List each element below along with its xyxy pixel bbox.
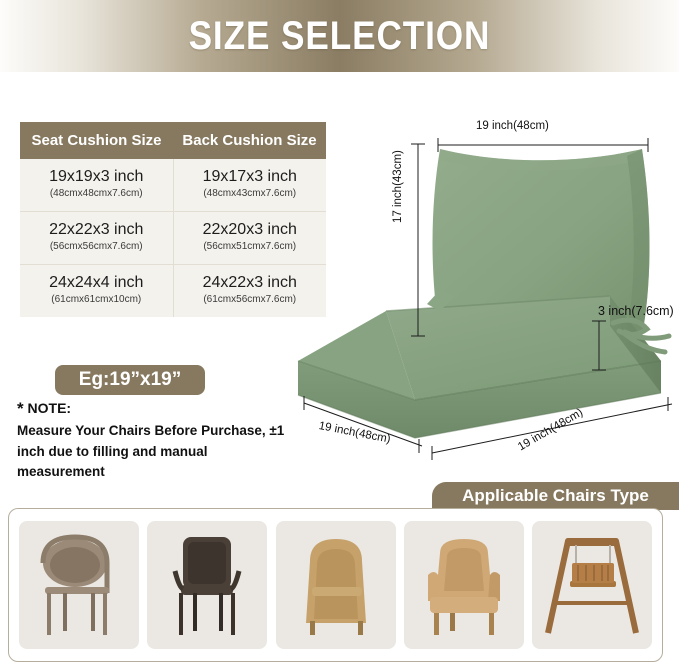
cushion-dimension-diagram: 19 inch(48cm) 17 inch(43cm) 3 inch(7.6cm… xyxy=(280,108,679,476)
seat-size-cm: (61cmx61cmx10cm) xyxy=(24,293,169,307)
page-title: SIZE SELECTION xyxy=(189,14,491,59)
example-size-label: Eg:19”x19” xyxy=(79,369,181,391)
seat-size-inch: 19x19x3 inch xyxy=(24,167,169,187)
seat-size-inch: 24x24x4 inch xyxy=(24,273,169,293)
chair-thumbnail-round-back-wicker-bistro-chair xyxy=(19,521,139,649)
chair-thumbnail-dark-brown-wicker-dining-armchair xyxy=(147,521,267,649)
chair-thumbnail-tan-wicker-barrel-chair xyxy=(276,521,396,649)
chair-thumbnail-natural-wicker-lounge-armchair xyxy=(404,521,524,649)
table-cell-seat-size: 22x22x3 inch (56cmx56cmx7.6cm) xyxy=(20,212,173,265)
note-heading: * NOTE: xyxy=(17,400,297,419)
applicable-chairs-panel xyxy=(8,508,663,662)
seat-size-cm: (56cmx56cmx7.6cm) xyxy=(24,240,169,254)
asterisk-icon: * xyxy=(17,399,24,418)
dim-label-seat-thickness: 3 inch(7.6cm) xyxy=(598,304,674,318)
table-cell-seat-size: 19x19x3 inch (48cmx48cmx7.6cm) xyxy=(20,159,173,212)
seat-size-cm: (48cmx48cmx7.6cm) xyxy=(24,187,169,201)
note-block: * NOTE: Measure Your Chairs Before Purch… xyxy=(17,400,297,481)
page-header-banner: SIZE SELECTION xyxy=(0,0,679,72)
note-heading-label: NOTE: xyxy=(28,400,72,416)
applicable-chairs-label: Applicable Chairs Type xyxy=(462,486,649,506)
applicable-chairs-tab: Applicable Chairs Type xyxy=(432,482,679,510)
dim-label-back-cushion-height: 17 inch(43cm) xyxy=(392,150,404,223)
dim-label-back-cushion-width: 19 inch(48cm) xyxy=(476,120,549,132)
note-line-1: Measure Your Chairs Before Purchase, ±1 xyxy=(17,421,297,441)
chair-thumbnail-wooden-porch-swing xyxy=(532,521,652,649)
note-line-2: inch due to filling and manual measureme… xyxy=(17,442,297,481)
seat-size-inch: 22x22x3 inch xyxy=(24,220,169,240)
cushion-illustration xyxy=(280,108,679,476)
column-header-seat-cushion-size: Seat Cushion Size xyxy=(20,122,173,159)
table-cell-seat-size: 24x24x4 inch (61cmx61cmx10cm) xyxy=(20,265,173,318)
example-size-badge: Eg:19”x19” xyxy=(55,365,205,395)
